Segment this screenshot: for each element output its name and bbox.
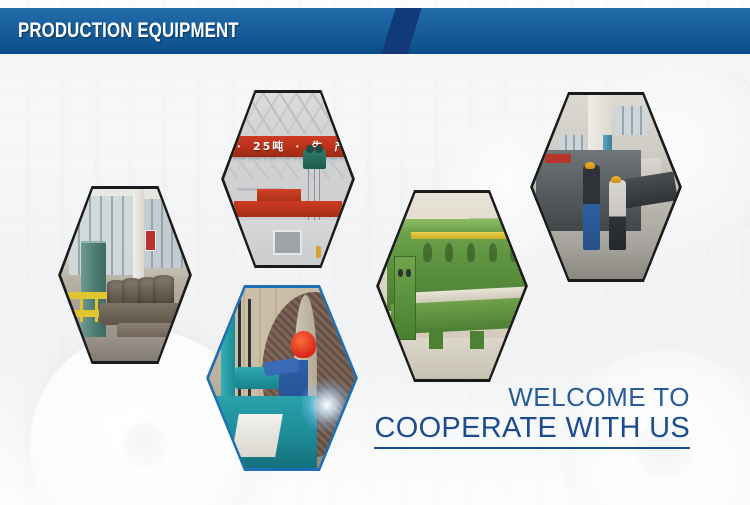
steel-pipe [153,275,173,306]
machine-port [445,243,454,262]
production-equipment-banner: PRODUCTION EQUIPMENT [0,0,750,505]
machine-port [467,243,476,262]
control-cabinet [394,256,416,340]
crane-text-dot2: · [295,140,301,153]
yellow-hard-hat [611,176,621,183]
crane-red-beam-low [234,201,342,216]
worker [609,180,627,250]
crane-hook [316,246,321,258]
header-banner: PRODUCTION EQUIPMENT [0,8,750,54]
machine-logo [545,154,571,163]
worker [583,165,601,250]
workshop-pillar [133,189,145,289]
red-welding-helmet [291,331,316,358]
welcome-line-2: COOPERATE WITH US [374,414,690,450]
wall-panel [273,230,303,255]
crane-red-beam-mid [257,189,301,201]
machine-port [423,243,432,262]
machine-foot [429,331,444,350]
lower-truss [224,158,352,179]
workshop-window [615,106,647,135]
white-fixture [231,414,282,457]
machine-port [489,243,498,262]
crane-trolley [303,150,326,169]
machine-foot [470,331,485,350]
wall-sign [145,230,156,251]
crane-text-tonnage: 25吨 [253,138,285,154]
welcome-line-1: WELCOME TO [374,384,690,411]
yellow-hard-hat [585,162,595,169]
page-title: PRODUCTION EQUIPMENT [18,8,239,54]
welcome-message: WELCOME TO COOPERATE WITH US [374,384,690,449]
